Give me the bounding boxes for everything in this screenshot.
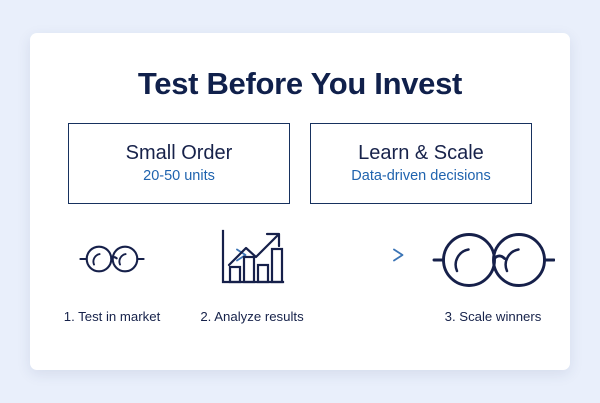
content-card: Test Before You Invest Small Order 20-50… bbox=[30, 33, 570, 370]
page-title: Test Before You Invest bbox=[30, 66, 570, 102]
pill-small-order-title: Small Order bbox=[126, 142, 233, 165]
arrow-right-icon bbox=[352, 245, 408, 265]
step-analyze-results: 2. Analyze results bbox=[177, 223, 327, 324]
step-test-in-market: 1. Test in market bbox=[37, 223, 187, 324]
bar-chart-growth-icon bbox=[177, 223, 327, 293]
step-scale-winners-label: 3. Scale winners bbox=[418, 309, 568, 324]
pill-learn-scale[interactable]: Learn & Scale Data-driven decisions bbox=[310, 123, 532, 204]
pill-row: Small Order 20-50 units Learn & Scale Da… bbox=[68, 123, 532, 204]
pill-learn-scale-title: Learn & Scale bbox=[358, 142, 484, 165]
eyeglasses-large-icon bbox=[418, 223, 568, 293]
step-scale-winners: 3. Scale winners bbox=[418, 223, 568, 324]
step-test-in-market-label: 1. Test in market bbox=[37, 309, 187, 324]
screenshot-root: Test Before You Invest Small Order 20-50… bbox=[0, 0, 600, 403]
pill-small-order-subtitle: 20-50 units bbox=[143, 168, 215, 185]
step-analyze-results-label: 2. Analyze results bbox=[177, 309, 327, 324]
pill-learn-scale-subtitle: Data-driven decisions bbox=[351, 168, 490, 185]
steps-row: 1. Test in market bbox=[30, 223, 570, 338]
pill-small-order[interactable]: Small Order 20-50 units bbox=[68, 123, 290, 204]
eyeglasses-small-icon bbox=[37, 223, 187, 293]
